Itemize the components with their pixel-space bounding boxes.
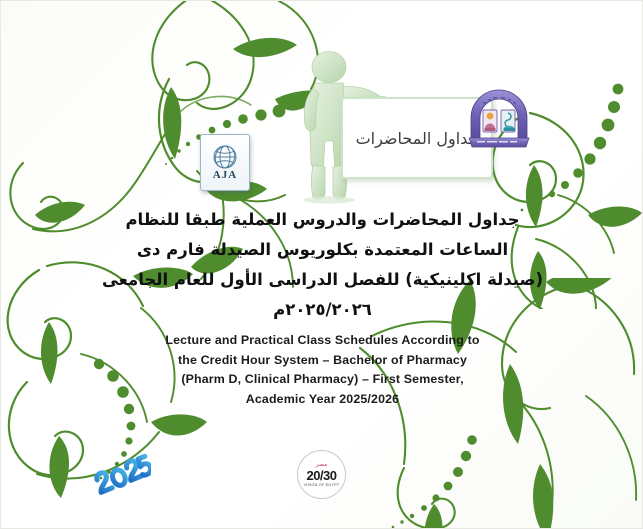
english-title-line-4: Academic Year 2025/2026	[1, 390, 643, 410]
english-title: Lecture and Practical Class Schedules Ac…	[1, 331, 643, 409]
aja-label: AJA	[213, 169, 237, 181]
aja-logo[interactable]: AJA	[200, 134, 250, 191]
vision-number: 20/30	[306, 469, 336, 482]
english-title-line-1: Lecture and Practical Class Schedules Ac…	[1, 331, 643, 351]
sign-label: جداول المحاضرات	[356, 129, 479, 148]
vision-2030-logo: مصر 20/30 VISION OF EGYPT	[297, 450, 346, 499]
arabic-title: جداول المحاضرات والدروس العملية طبقا للن…	[1, 205, 643, 325]
english-title-line-3: (Pharm D, Clinical Pharmacy) – First Sem…	[1, 370, 643, 390]
arabic-title-line-3: (صيدلة اكلينيكية) للفصل الدراسى الأول لل…	[1, 265, 643, 295]
year-2025-logo	[89, 453, 151, 497]
arabic-title-line-1: جداول المحاضرات والدروس العملية طبقا للن…	[1, 205, 643, 235]
arabic-title-line-2: الساعات المعتمدة بكلوريوس الصيدلة فارم د…	[1, 235, 643, 265]
arabic-title-line-4: ٢٠٢٥/٢٠٢٦م	[1, 295, 643, 325]
english-title-line-2: the Credit Hour System – Bachelor of Pha…	[1, 351, 643, 371]
mascot-with-sign: جداول المحاضرات	[289, 49, 489, 204]
globe-icon	[210, 144, 240, 172]
vision-subtitle: VISION OF EGYPT	[304, 483, 340, 487]
poster-page: جداول المحاضرات AJA	[0, 0, 643, 529]
university-seal-icon[interactable]	[463, 84, 535, 152]
